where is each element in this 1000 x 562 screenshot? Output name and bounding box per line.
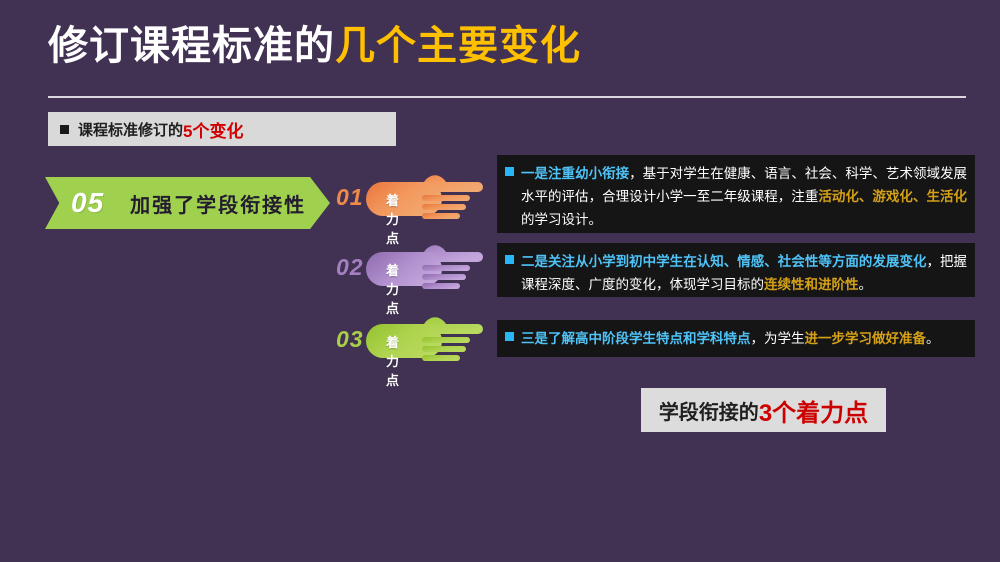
footer-chip: 学段衔接的3个着力点 — [641, 388, 886, 432]
pointing-hand-icon-1 — [366, 172, 484, 230]
pointing-hand-icon-3 — [366, 314, 484, 372]
footer-accent: 3个着力点 — [759, 393, 868, 428]
hand-label-1: 着力点 — [386, 190, 400, 247]
page-title-accent: 几个主要变化 — [335, 24, 581, 68]
subtitle-plain: 课程标准修订的 — [78, 119, 183, 140]
section-number: 05 — [71, 187, 104, 219]
title-divider — [48, 96, 966, 98]
hand-label-2: 着力点 — [386, 260, 400, 317]
point-index-2: 02 — [336, 254, 364, 281]
section-label: 加强了学段衔接性 — [130, 189, 306, 218]
point-text-3: 三是了解高中阶段学生特点和学科特点，为学生进一步学习做好准备。 — [505, 327, 967, 350]
point-panel-2: 二是关注从小学到初中学生在认知、情感、社会性等方面的发展变化，把握课程深度、广度… — [497, 243, 975, 297]
footer-plain: 学段衔接的 — [659, 396, 759, 425]
bullet-square-icon — [505, 167, 514, 176]
point-index-1: 01 — [336, 184, 364, 211]
point-panel-3: 三是了解高中阶段学生特点和学科特点，为学生进一步学习做好准备。 — [497, 320, 975, 357]
point-text-2: 二是关注从小学到初中学生在认知、情感、社会性等方面的发展变化，把握课程深度、广度… — [505, 250, 967, 296]
pointing-hand-icon-2 — [366, 242, 484, 300]
bullet-square-icon — [505, 255, 514, 264]
subtitle-chip: 课程标准修订的5个变化 — [48, 112, 396, 146]
bullet-square-icon — [505, 332, 514, 341]
point-index-3: 03 — [336, 326, 364, 353]
hand-label-3: 着力点 — [386, 332, 400, 389]
subtitle-accent: 5个变化 — [183, 117, 243, 142]
section-banner: 05 加强了学段衔接性 — [45, 177, 330, 229]
square-bullet-icon — [60, 125, 69, 134]
point-panel-1: 一是注重幼小衔接，基于对学生在健康、语言、社会、科学、艺术领域发展水平的评估，合… — [497, 155, 975, 233]
page-title-plain: 修订课程标准的 — [48, 24, 335, 68]
point-text-1: 一是注重幼小衔接，基于对学生在健康、语言、社会、科学、艺术领域发展水平的评估，合… — [505, 162, 967, 231]
slide-canvas: 修订课程标准的几个主要变化 课程标准修订的5个变化 05 加强了学段衔接性 01 — [0, 0, 1000, 562]
page-title: 修订课程标准的几个主要变化 — [48, 22, 581, 70]
